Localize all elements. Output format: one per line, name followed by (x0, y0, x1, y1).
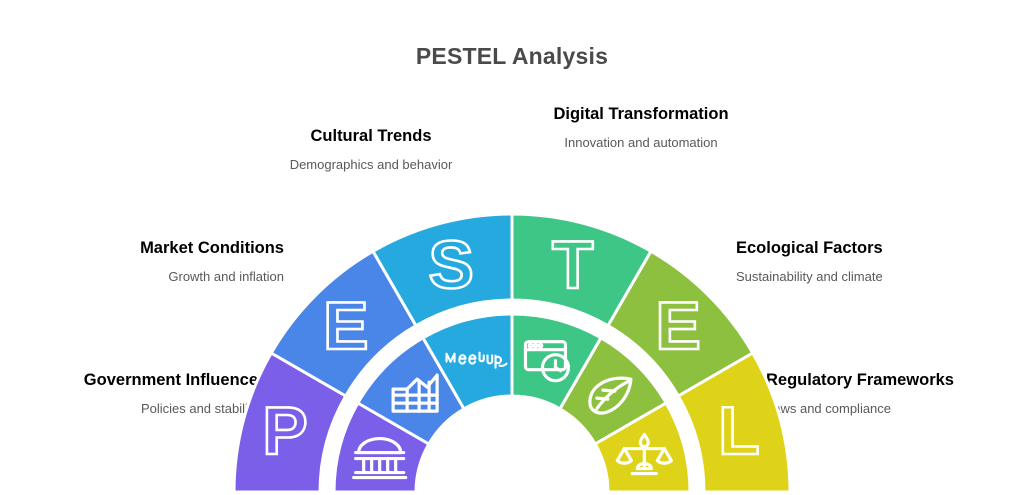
segment-letter-environmental: E (655, 288, 700, 364)
segment-letter-social: S (428, 227, 473, 303)
segment-letter-legal: L (718, 393, 760, 469)
segment-letter-political: P (262, 393, 307, 469)
pestel-wheel: PESTEL (0, 0, 1024, 495)
pestel-diagram: PESTEL Analysis Government Influence Pol… (0, 0, 1024, 495)
segment-letter-economic: E (323, 288, 368, 364)
segment-letter-technological: T (552, 227, 594, 303)
